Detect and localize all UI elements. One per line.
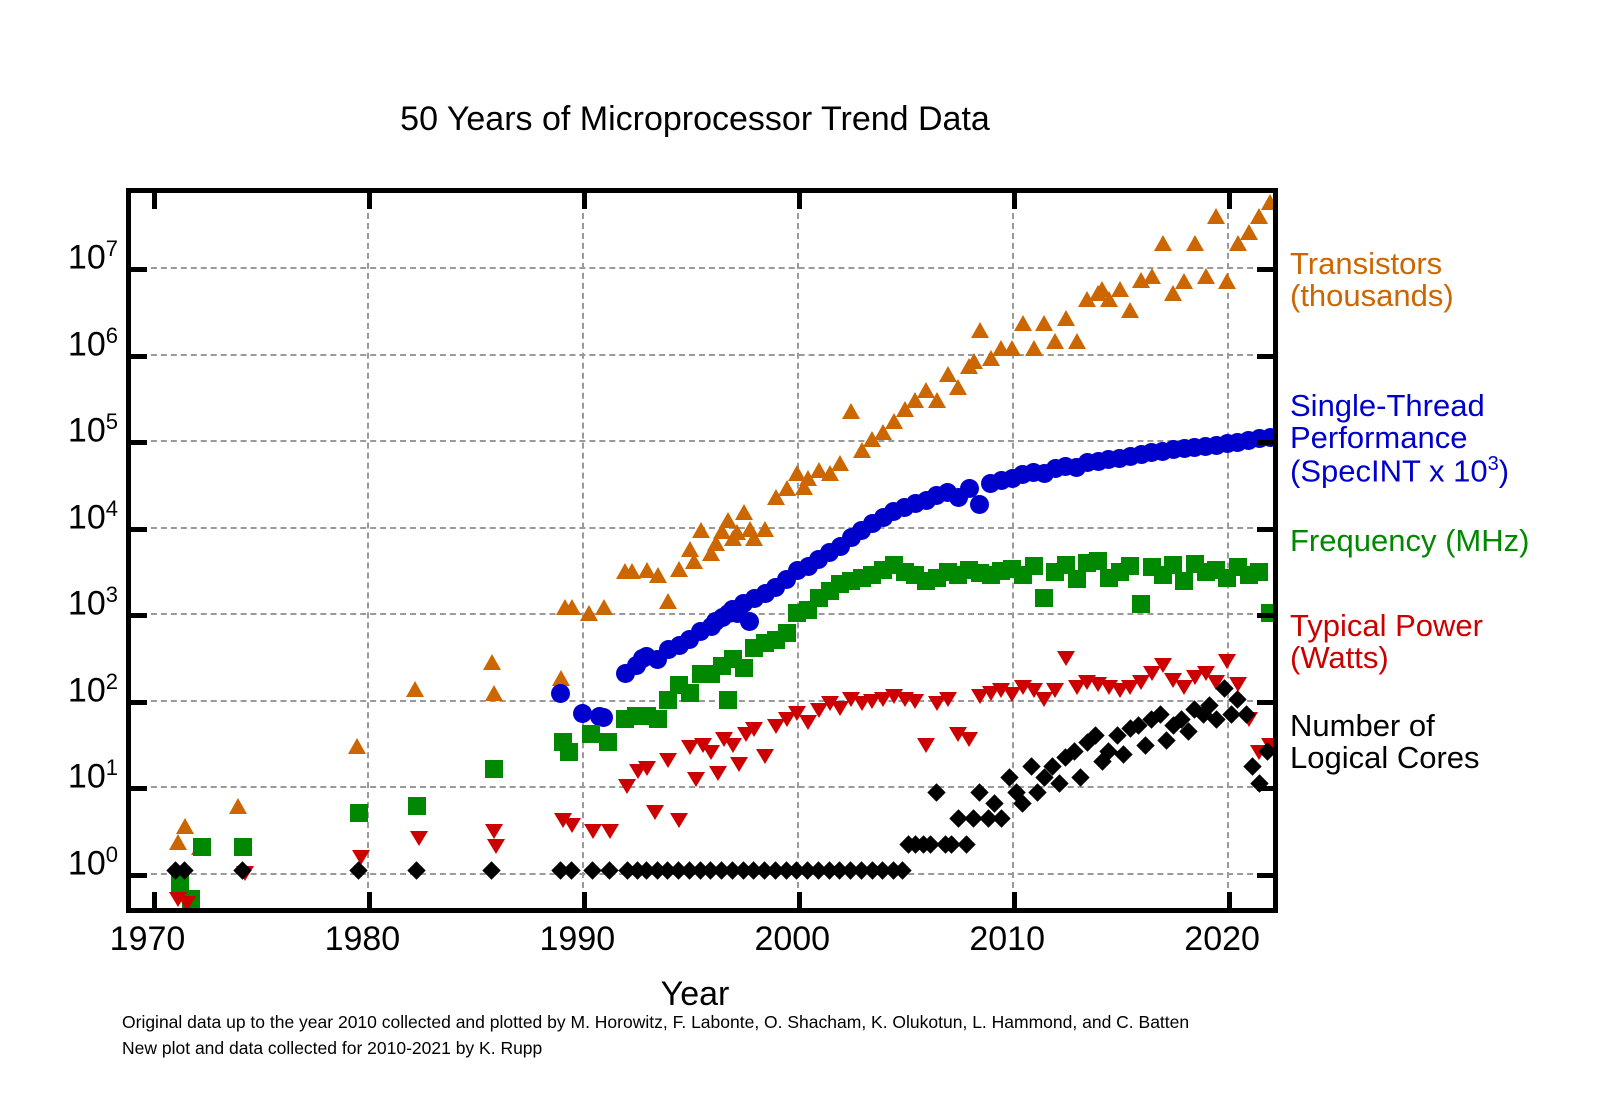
data-point-sq bbox=[485, 760, 503, 778]
data-point-dtri bbox=[485, 824, 503, 839]
y-tick bbox=[131, 440, 147, 445]
data-point-tri bbox=[1154, 235, 1172, 251]
data-point-dia bbox=[1136, 736, 1154, 754]
x-tick bbox=[582, 193, 587, 209]
data-point-sq bbox=[719, 691, 737, 709]
legend-frequency-line1: Frequency (MHz) bbox=[1290, 525, 1529, 557]
data-point-tri bbox=[971, 322, 989, 338]
data-point-dia bbox=[958, 835, 976, 853]
plot-area bbox=[126, 188, 1278, 913]
caption-line-2: New plot and data collected for 2010-202… bbox=[122, 1038, 542, 1059]
data-point-dtri bbox=[670, 813, 688, 828]
data-point-tri bbox=[1111, 281, 1129, 297]
data-point-sq bbox=[193, 838, 211, 856]
x-tick bbox=[367, 193, 372, 209]
x-tick bbox=[1012, 193, 1017, 209]
data-point-dia bbox=[601, 861, 619, 879]
data-point-tri bbox=[842, 403, 860, 419]
data-point-tri bbox=[1240, 224, 1258, 240]
data-point-dia bbox=[483, 861, 501, 879]
data-point-dtri bbox=[906, 694, 924, 709]
data-point-tri bbox=[649, 567, 667, 583]
data-point-cir bbox=[970, 495, 989, 514]
data-point-sq bbox=[778, 624, 796, 642]
x-tick-label: 2000 bbox=[712, 920, 872, 959]
data-point-tri bbox=[1068, 333, 1086, 349]
legend-transistors: Transistors (thousands) bbox=[1290, 248, 1454, 312]
x-tick-label: 1990 bbox=[497, 920, 657, 959]
data-point-tri bbox=[659, 593, 677, 609]
data-point-tri bbox=[1057, 310, 1075, 326]
data-point-dia bbox=[1022, 757, 1040, 775]
x-tick-label: 1980 bbox=[282, 920, 442, 959]
data-point-dtri bbox=[730, 757, 748, 772]
legend-logical-cores: Number of Logical Cores bbox=[1290, 710, 1480, 774]
data-point-dtri bbox=[939, 692, 957, 707]
data-point-sq bbox=[1250, 563, 1268, 581]
data-point-tri bbox=[563, 599, 581, 615]
data-point-dia bbox=[1243, 757, 1261, 775]
y-tick bbox=[1257, 267, 1273, 272]
data-point-sq bbox=[1025, 557, 1043, 575]
y-tick bbox=[1257, 873, 1273, 878]
data-point-tri bbox=[1207, 208, 1225, 224]
data-point-sq bbox=[408, 797, 426, 815]
data-point-tri bbox=[1143, 268, 1161, 284]
data-point-dia bbox=[1071, 768, 1089, 786]
data-point-tri bbox=[965, 353, 983, 369]
legend-power-line1: Typical Power bbox=[1290, 610, 1483, 642]
data-point-tri bbox=[735, 504, 753, 520]
legend-power-line2: (Watts) bbox=[1290, 642, 1483, 674]
y-tick bbox=[131, 786, 147, 791]
data-point-sq bbox=[735, 659, 753, 677]
data-point-dia bbox=[970, 783, 988, 801]
y-tick-label: 102 bbox=[68, 671, 118, 707]
y-tick-label: 103 bbox=[68, 584, 118, 620]
legend-transistors-line2: (thousands) bbox=[1290, 280, 1454, 312]
x-tick bbox=[797, 892, 802, 908]
data-point-tri bbox=[1014, 315, 1032, 331]
x-tick bbox=[1227, 892, 1232, 908]
y-tick bbox=[1257, 786, 1273, 791]
data-point-dia bbox=[584, 861, 602, 879]
data-point-tri bbox=[406, 681, 424, 697]
legend-cores-line1: Number of bbox=[1290, 710, 1480, 742]
legend-frequency: Frequency (MHz) bbox=[1290, 525, 1529, 557]
data-point-cir bbox=[740, 612, 759, 631]
data-point-tri bbox=[485, 685, 503, 701]
data-point-tri bbox=[1046, 333, 1064, 349]
legend-cores-line2: Logical Cores bbox=[1290, 742, 1480, 774]
data-point-dtri bbox=[178, 896, 196, 909]
data-point-dtri bbox=[960, 732, 978, 747]
data-point-dia bbox=[1114, 745, 1132, 763]
data-point-sq bbox=[1175, 572, 1193, 590]
data-point-tri bbox=[685, 553, 703, 569]
y-tick-label: 106 bbox=[68, 325, 118, 361]
data-point-sq bbox=[582, 725, 600, 743]
data-point-tri bbox=[348, 738, 366, 754]
y-tick-label: 101 bbox=[68, 757, 118, 793]
data-point-dtri bbox=[646, 805, 664, 820]
x-tick bbox=[1227, 193, 1232, 209]
data-point-tri bbox=[1250, 208, 1268, 224]
y-tick bbox=[1257, 527, 1273, 532]
data-point-dtri bbox=[638, 761, 656, 776]
y-tick-label: 107 bbox=[68, 238, 118, 274]
data-point-dia bbox=[562, 861, 580, 879]
legend-single-thread-performance: Single-Thread Performance (SpecINT x 103… bbox=[1290, 390, 1509, 488]
caption-line-1: Original data up to the year 2010 collec… bbox=[122, 1012, 1189, 1033]
y-tick bbox=[131, 267, 147, 272]
y-tick bbox=[131, 873, 147, 878]
data-point-tri bbox=[595, 599, 613, 615]
legend-stp-line3: (SpecINT x 103) bbox=[1290, 454, 1509, 488]
legend-stp-line2: Performance bbox=[1290, 422, 1509, 454]
data-points-layer bbox=[131, 193, 1273, 908]
chart-title: 50 Years of Microprocessor Trend Data bbox=[0, 100, 1390, 139]
data-point-sq bbox=[1035, 589, 1053, 607]
data-point-dtri bbox=[745, 722, 763, 737]
x-tick-label: 1970 bbox=[67, 920, 227, 959]
legend-transistors-line1: Transistors bbox=[1290, 248, 1454, 280]
data-point-dia bbox=[927, 783, 945, 801]
data-point-sq bbox=[1132, 595, 1150, 613]
data-point-sq bbox=[350, 804, 368, 822]
data-point-dtri bbox=[410, 831, 428, 846]
data-point-dtri bbox=[1154, 658, 1172, 673]
data-point-sq bbox=[1121, 557, 1139, 575]
data-point-cir bbox=[573, 704, 592, 723]
chart-page: 50 Years of Microprocessor Trend Data 10… bbox=[0, 0, 1600, 1117]
x-tick bbox=[152, 892, 157, 908]
data-point-tri bbox=[483, 654, 501, 670]
y-tick bbox=[1257, 440, 1273, 445]
x-tick bbox=[797, 193, 802, 209]
y-tick-label: 104 bbox=[68, 498, 118, 534]
data-point-tri bbox=[1218, 273, 1236, 289]
y-tick bbox=[1257, 354, 1273, 359]
data-point-tri bbox=[1025, 340, 1043, 356]
data-point-tri bbox=[1261, 194, 1273, 210]
data-point-sq bbox=[681, 684, 699, 702]
data-point-sq bbox=[1068, 570, 1086, 588]
x-tick bbox=[152, 193, 157, 209]
data-point-dia bbox=[407, 861, 425, 879]
data-point-sq bbox=[649, 710, 667, 728]
data-point-tri bbox=[1197, 268, 1215, 284]
y-tick-label: 100 bbox=[68, 844, 118, 880]
data-point-dtri bbox=[487, 839, 505, 854]
data-point-tri bbox=[756, 521, 774, 537]
data-point-tri bbox=[176, 818, 194, 834]
data-point-dtri bbox=[601, 824, 619, 839]
data-point-sq bbox=[234, 838, 252, 856]
data-point-dtri bbox=[618, 779, 636, 794]
data-point-tri bbox=[229, 798, 247, 814]
data-point-dtri bbox=[709, 766, 727, 781]
data-point-dtri bbox=[563, 818, 581, 833]
data-point-dtri bbox=[1046, 683, 1064, 698]
x-tick bbox=[1012, 892, 1017, 908]
y-tick-label: 105 bbox=[68, 411, 118, 447]
data-point-tri bbox=[169, 834, 187, 850]
x-tick-label: 2020 bbox=[1142, 920, 1302, 959]
data-point-dtri bbox=[1057, 651, 1075, 666]
data-point-dtri bbox=[1218, 654, 1236, 669]
data-point-dtri bbox=[917, 738, 935, 753]
legend-typical-power: Typical Power (Watts) bbox=[1290, 610, 1483, 674]
y-tick bbox=[131, 700, 147, 705]
data-point-dtri bbox=[756, 749, 774, 764]
y-tick bbox=[131, 354, 147, 359]
legend-stp-line1: Single-Thread bbox=[1290, 390, 1509, 422]
data-point-tri bbox=[1121, 302, 1139, 318]
y-tick bbox=[1257, 700, 1273, 705]
data-point-tri bbox=[831, 455, 849, 471]
x-tick-label: 2010 bbox=[927, 920, 1087, 959]
x-axis-title: Year bbox=[0, 975, 1390, 1014]
x-tick bbox=[582, 892, 587, 908]
data-point-tri bbox=[1186, 235, 1204, 251]
data-point-tri bbox=[928, 392, 946, 408]
data-point-tri bbox=[1035, 315, 1053, 331]
y-tick bbox=[131, 613, 147, 618]
x-tick bbox=[367, 892, 372, 908]
y-tick bbox=[131, 527, 147, 532]
data-point-sq bbox=[560, 743, 578, 761]
data-point-tri bbox=[949, 379, 967, 395]
data-point-dtri bbox=[687, 772, 705, 787]
data-point-cir bbox=[551, 684, 570, 703]
data-point-dtri bbox=[659, 753, 677, 768]
data-point-sq bbox=[599, 733, 617, 751]
data-point-tri bbox=[778, 480, 796, 496]
data-point-tri bbox=[1175, 273, 1193, 289]
data-point-tri bbox=[1003, 340, 1021, 356]
data-point-dtri bbox=[584, 824, 602, 839]
y-tick bbox=[1257, 613, 1273, 618]
